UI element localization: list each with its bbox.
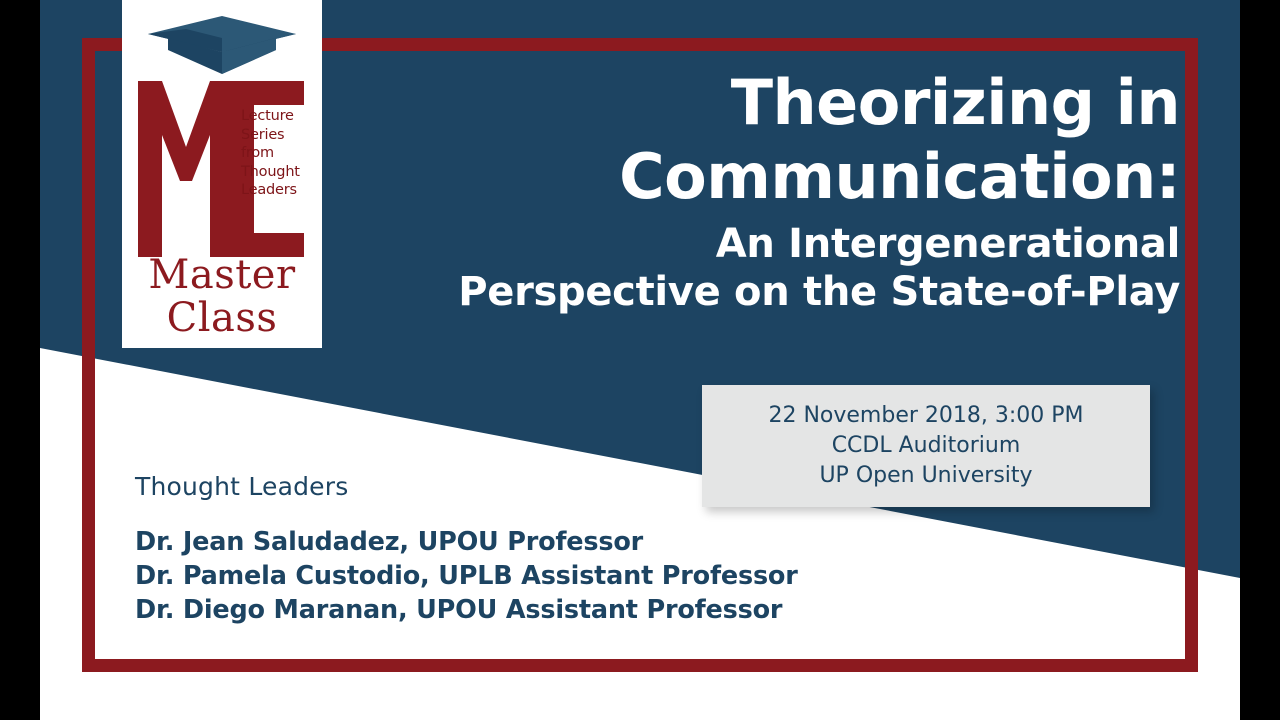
speakers-heading: Thought Leaders <box>135 472 798 502</box>
letterbox-right <box>1240 0 1280 720</box>
event-venue: CCDL Auditorium <box>832 431 1021 461</box>
masterclass-logo-card: Lecture Series from Thought Leaders Mast… <box>122 0 322 348</box>
logo-wordmark-line2: Class <box>127 298 317 339</box>
speaker-item: Dr. Pamela Custodio, UPLB Assistant Prof… <box>135 559 798 593</box>
logo-tagline-line: Leaders <box>241 181 313 200</box>
letterbox-left <box>0 0 40 720</box>
poster-stage: Lecture Series from Thought Leaders Mast… <box>0 0 1280 720</box>
page-subtitle: An Intergenerational Perspective on the … <box>340 220 1180 316</box>
event-datetime: 22 November 2018, 3:00 PM <box>768 401 1083 431</box>
speaker-item: Dr. Jean Saludadez, UPOU Professor <box>135 525 798 559</box>
logo-tagline-line: Series <box>241 126 313 145</box>
logo-tagline-line: from <box>241 144 313 163</box>
frame-border-left <box>82 38 95 672</box>
page-title: Theorizing in Communication: <box>340 66 1180 214</box>
frame-border-right <box>1185 38 1198 672</box>
logo-wordmark: Master Class <box>127 255 317 339</box>
logo-tagline: Lecture Series from Thought Leaders <box>241 107 313 200</box>
speakers-section: Thought Leaders Dr. Jean Saludadez, UPOU… <box>135 472 798 627</box>
title-block: Theorizing in Communication: An Intergen… <box>340 66 1180 316</box>
logo-tagline-line: Lecture <box>241 107 313 126</box>
event-details-panel: 22 November 2018, 3:00 PM CCDL Auditoriu… <box>702 385 1150 507</box>
speakers-list: Dr. Jean Saludadez, UPOU Professor Dr. P… <box>135 525 798 627</box>
frame-border-bottom <box>82 659 1198 672</box>
logo-tagline-line: Thought <box>241 163 313 182</box>
speaker-item: Dr. Diego Maranan, UPOU Assistant Profes… <box>135 593 798 627</box>
event-institution: UP Open University <box>819 461 1032 491</box>
poster-canvas: Lecture Series from Thought Leaders Mast… <box>40 0 1240 720</box>
mc-monogram-icon: Lecture Series from Thought Leaders <box>128 61 316 261</box>
